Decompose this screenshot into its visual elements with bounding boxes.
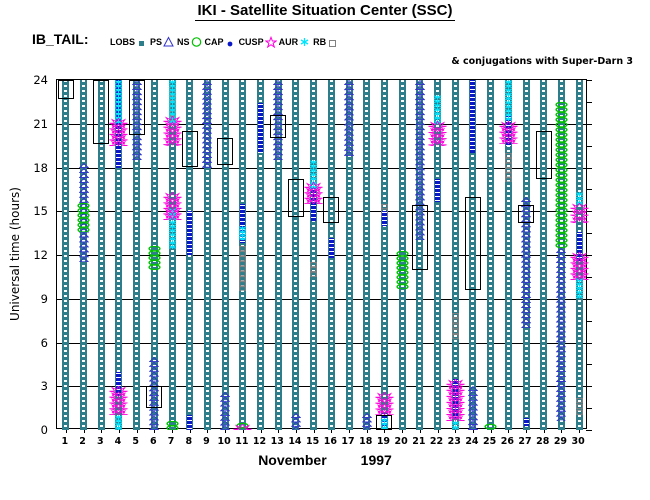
y-tick-label: 15 bbox=[22, 204, 48, 218]
y-tick-right bbox=[586, 321, 592, 322]
y-tick-right bbox=[586, 146, 592, 147]
series-superdarn bbox=[57, 80, 586, 428]
x-tick-label: 21 bbox=[412, 436, 425, 447]
y-tick-right bbox=[586, 430, 592, 431]
y-tick-right bbox=[586, 233, 592, 234]
legend-label: CAP bbox=[205, 38, 224, 47]
x-tick-label: 16 bbox=[324, 436, 337, 447]
x-tick-label: 4 bbox=[115, 436, 122, 447]
x-tick-label: 1 bbox=[62, 436, 69, 447]
x-tick-label: 7 bbox=[168, 436, 175, 447]
y-tick-label: 0 bbox=[22, 423, 48, 437]
y-tick-right bbox=[586, 80, 592, 81]
y-tick-label: 9 bbox=[22, 292, 48, 306]
legend-label: CUSP bbox=[239, 38, 264, 47]
x-tick-label: 25 bbox=[483, 436, 496, 447]
y-tick-label: 18 bbox=[22, 161, 48, 175]
x-tick-label: 22 bbox=[430, 436, 443, 447]
circle-outline-icon bbox=[191, 36, 202, 47]
x-tick-label: 12 bbox=[253, 436, 266, 447]
conjugation-note: & conjugations with Super-Darn 3 bbox=[0, 56, 633, 67]
y-tick-right bbox=[586, 299, 592, 300]
x-axis-month: November bbox=[258, 452, 326, 468]
legend-label: LOBS bbox=[110, 38, 135, 47]
x-tick-label: 18 bbox=[359, 436, 372, 447]
plot-area: 03691215182124 bbox=[56, 79, 587, 429]
y-tick-right bbox=[586, 343, 592, 344]
data-marker-superdarn bbox=[58, 80, 74, 99]
y-tick-label: 12 bbox=[22, 248, 48, 262]
x-tick-label: 19 bbox=[377, 436, 390, 447]
x-tick-label: 3 bbox=[97, 436, 104, 447]
legend-item-ps: PS bbox=[150, 36, 174, 47]
legend-item-ns: NS bbox=[177, 36, 202, 47]
square-outline-icon bbox=[327, 36, 338, 47]
x-tick-label: 26 bbox=[501, 436, 514, 447]
y-tick-right bbox=[586, 364, 592, 365]
data-marker-superdarn bbox=[518, 205, 534, 223]
y-tick-right bbox=[586, 189, 592, 190]
legend-label: AUR bbox=[279, 38, 299, 47]
x-tick-label: 14 bbox=[288, 436, 301, 447]
y-tick-label: 24 bbox=[22, 73, 48, 87]
y-tick-label: 21 bbox=[22, 117, 48, 131]
y-tick-right bbox=[586, 168, 592, 169]
y-tick-label: 6 bbox=[22, 336, 48, 350]
x-tick-label: 23 bbox=[448, 436, 461, 447]
x-tick-label: 10 bbox=[218, 436, 231, 447]
y-tick-right bbox=[586, 124, 592, 125]
x-tick-label: 27 bbox=[518, 436, 531, 447]
y-axis-title: Universal time (hours) bbox=[7, 79, 23, 429]
panel-label: IB_TAIL: bbox=[32, 31, 89, 47]
y-tick-right bbox=[586, 408, 592, 409]
x-tick-label: 17 bbox=[341, 436, 354, 447]
legend-item-cap: CAP bbox=[205, 36, 236, 47]
x-tick-label: 24 bbox=[465, 436, 478, 447]
y-tick-right bbox=[586, 102, 592, 103]
legend-label: NS bbox=[177, 38, 190, 47]
star-outline-icon bbox=[265, 36, 276, 47]
legend: LOBSPSNSCAPCUSPAURRB bbox=[110, 36, 341, 47]
legend-item-lobs: LOBS bbox=[110, 36, 147, 47]
data-marker-superdarn bbox=[412, 205, 428, 269]
legend-item-aur: AUR bbox=[279, 36, 311, 47]
page-title-text: IKI - Satellite Situation Center (SSC) bbox=[195, 2, 454, 21]
asterisk-icon bbox=[299, 36, 310, 47]
x-tick-label: 15 bbox=[306, 436, 319, 447]
x-tick-label: 13 bbox=[271, 436, 284, 447]
data-marker-superdarn bbox=[323, 197, 339, 223]
data-marker-superdarn bbox=[129, 80, 145, 135]
page-title: IKI - Satellite Situation Center (SSC) bbox=[0, 2, 650, 19]
x-tick-label: 2 bbox=[79, 436, 86, 447]
data-marker-superdarn bbox=[93, 80, 109, 144]
triangle-outline-icon bbox=[163, 36, 174, 47]
legend-label: RB bbox=[313, 38, 326, 47]
data-marker-superdarn bbox=[376, 415, 392, 430]
y-tick-right bbox=[586, 386, 592, 387]
filled-circle-icon bbox=[225, 36, 236, 47]
x-axis-year: 1997 bbox=[361, 452, 392, 468]
x-tick-label: 29 bbox=[554, 436, 567, 447]
x-tick-label: 6 bbox=[150, 436, 157, 447]
data-marker-superdarn bbox=[182, 131, 198, 167]
x-tick-label: 20 bbox=[395, 436, 408, 447]
legend-item-cusp: CUSP bbox=[239, 36, 276, 47]
y-axis-title-text: Universal time (hours) bbox=[8, 187, 22, 321]
x-tick-label: 28 bbox=[536, 436, 549, 447]
x-axis-title: November1997 bbox=[0, 452, 650, 468]
chart-page: IKI - Satellite Situation Center (SSC) I… bbox=[0, 0, 650, 500]
data-marker-superdarn bbox=[536, 131, 552, 179]
data-marker-superdarn bbox=[146, 386, 162, 408]
filled-square-icon bbox=[136, 36, 147, 47]
x-tick-label: 9 bbox=[203, 436, 210, 447]
data-marker-superdarn bbox=[465, 197, 481, 290]
data-marker-superdarn bbox=[217, 138, 233, 164]
y-tick-label: 3 bbox=[22, 379, 48, 393]
x-tick-label: 5 bbox=[132, 436, 139, 447]
legend-item-rb: RB bbox=[313, 36, 338, 47]
legend-label: PS bbox=[150, 38, 162, 47]
x-tick-label: 11 bbox=[235, 436, 248, 447]
x-tick-label: 30 bbox=[572, 436, 585, 447]
x-tick-label: 8 bbox=[185, 436, 192, 447]
data-marker-superdarn bbox=[288, 179, 304, 217]
data-marker-superdarn bbox=[270, 115, 286, 138]
